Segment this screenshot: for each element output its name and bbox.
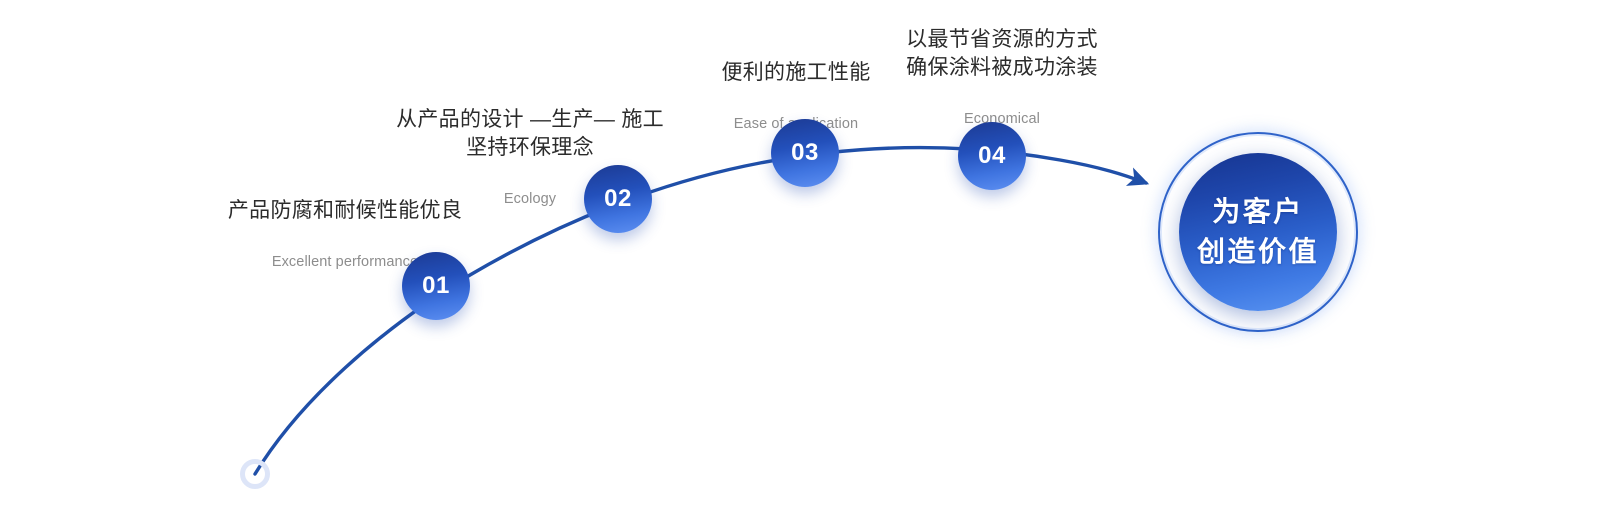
goal-label: 为客户 创造价值	[1197, 192, 1319, 272]
step-node-03[interactable]: 03	[771, 119, 839, 187]
step-title-en-02: Ecology	[310, 190, 750, 209]
step-number-03: 03	[791, 139, 819, 167]
step-number-01: 01	[422, 272, 450, 300]
step-node-01[interactable]: 01	[402, 252, 470, 320]
step-number-04: 04	[978, 142, 1006, 170]
step-number-02: 02	[604, 185, 632, 213]
step-title-cn-04: 以最节省资源的方式 确保涂料被成功涂装	[802, 26, 1202, 81]
infographic-canvas: 产品防腐和耐候性能优良 Excellent performance 01 从产品…	[0, 0, 1620, 510]
goal-circle[interactable]: 为客户 创造价值	[1158, 132, 1358, 332]
goal-disc: 为客户 创造价值	[1179, 153, 1337, 311]
step-title-en-01: Excellent performance	[135, 253, 555, 272]
origin-ring-marker	[240, 459, 270, 489]
step-node-02[interactable]: 02	[584, 165, 652, 233]
step-node-04[interactable]: 04	[958, 122, 1026, 190]
